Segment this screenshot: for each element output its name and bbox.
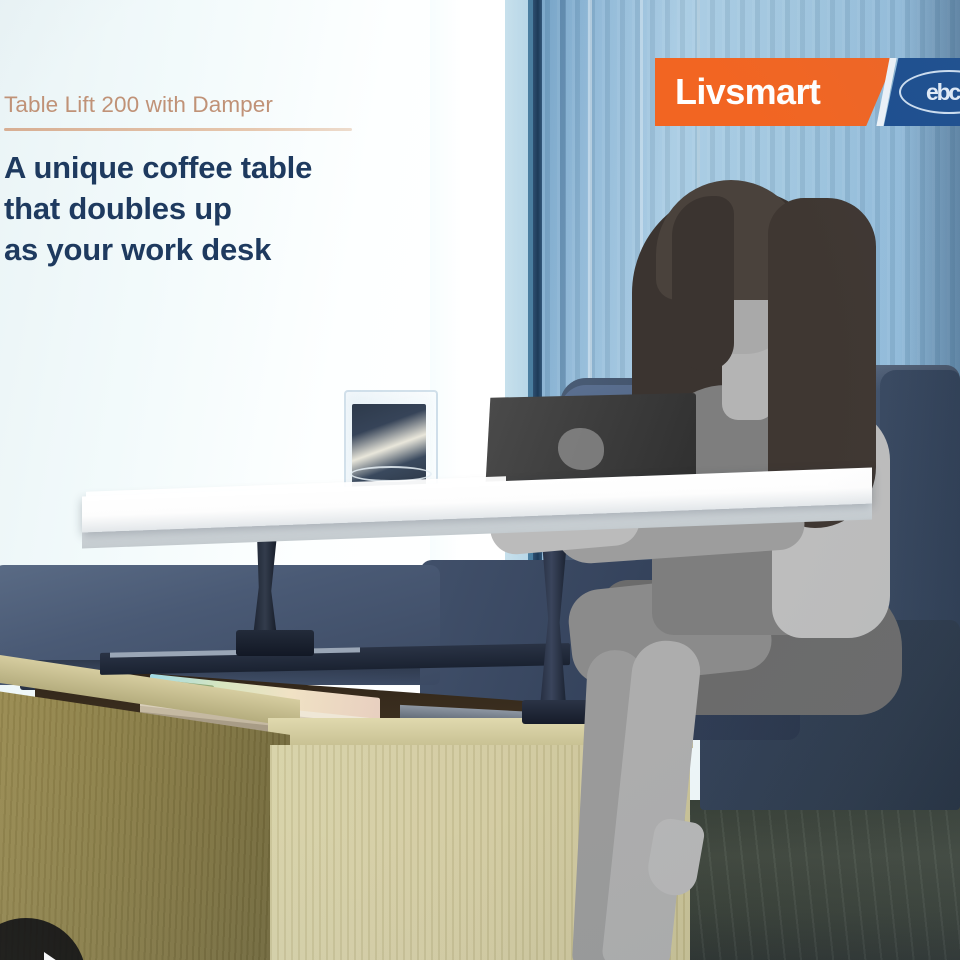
headline-line-2: that doubles up (4, 189, 424, 230)
ebco-wordmark: ebco (926, 79, 960, 106)
headline: A unique coffee table that doubles up as… (4, 148, 424, 271)
laptop-logo-icon (558, 428, 604, 470)
headline-line-3: as your work desk (4, 230, 424, 271)
logo-wordmark: Livsmart (675, 71, 820, 113)
text-overlay: Table Lift 200 with Damper A unique coff… (4, 92, 424, 271)
logo-orange-panel: Livsmart (655, 58, 895, 126)
video-frame: Table Lift 200 with Damper A unique coff… (0, 0, 960, 960)
storage-box-panel-left (0, 690, 290, 960)
play-triangle-icon[interactable] (44, 952, 66, 960)
ebco-oval-icon: ebco (899, 70, 960, 114)
lift-arm-left-foot (236, 630, 314, 656)
brand-logo: Livsmart ebco (655, 58, 960, 126)
headline-line-1: A unique coffee table (4, 148, 424, 189)
product-name: Table Lift 200 with Damper (4, 92, 424, 118)
divider-rule (4, 128, 352, 131)
person-silhouette (560, 180, 960, 920)
hair-front (672, 196, 734, 371)
